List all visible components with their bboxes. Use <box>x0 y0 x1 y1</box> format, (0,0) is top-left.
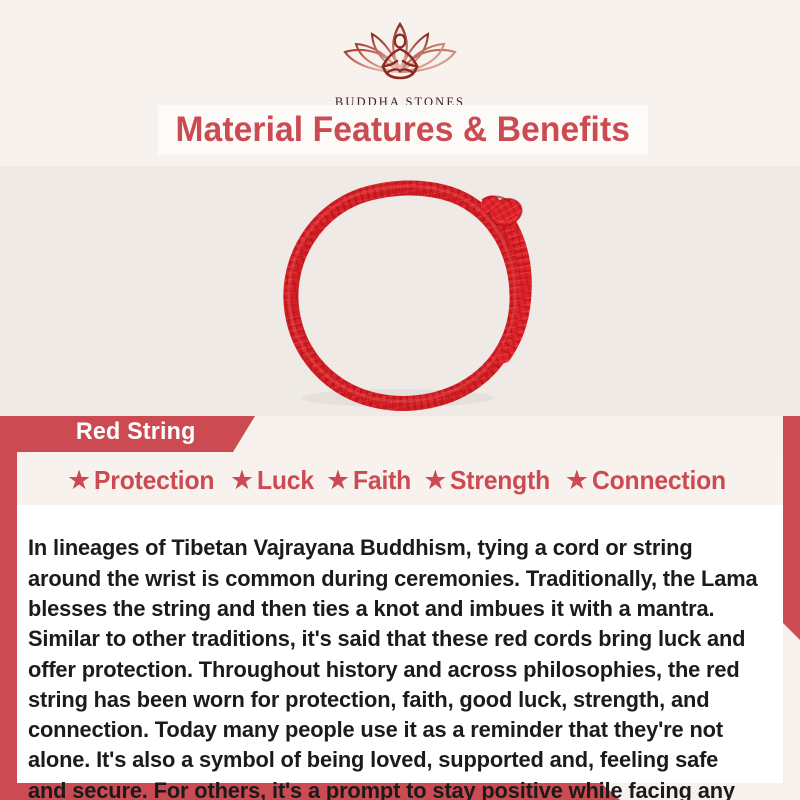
star-icon: ★ <box>326 467 350 494</box>
benefit-label: Luck <box>257 465 314 496</box>
benefit-item: ★ Protection <box>67 465 221 496</box>
star-icon: ★ <box>423 467 447 494</box>
benefit-item: ★ Faith <box>326 465 414 496</box>
star-icon: ★ <box>565 467 589 494</box>
benefit-label: Strength <box>450 465 550 496</box>
brand-lockup: BUDDHA STONES <box>0 16 800 110</box>
title-banner: Material Features & Benefits <box>158 105 648 155</box>
red-string-bracelet-image <box>238 166 568 416</box>
lotus-meditation-icon <box>0 16 800 93</box>
product-label-text: Red String <box>76 418 196 446</box>
benefit-item: ★ Luck <box>230 465 317 496</box>
benefit-label: Connection <box>592 465 726 496</box>
benefit-label: Protection <box>94 465 214 496</box>
page-title: Material Features & Benefits <box>176 110 631 150</box>
star-icon: ★ <box>67 467 91 494</box>
benefits-row: ★ Protection ★ Luck ★ Faith ★ Strength ★… <box>17 456 783 504</box>
description-text: In lineages of Tibetan Vajrayana Buddhis… <box>28 533 759 800</box>
product-photo-stage <box>0 166 800 416</box>
product-feature-poster: BUDDHA STONES Material Features & Benefi… <box>0 0 800 800</box>
star-icon: ★ <box>230 467 254 494</box>
benefit-label: Faith <box>353 465 411 496</box>
benefit-item: ★ Connection <box>565 465 733 496</box>
description-panel: In lineages of Tibetan Vajrayana Buddhis… <box>17 505 783 783</box>
benefit-item: ★ Strength <box>423 465 556 496</box>
